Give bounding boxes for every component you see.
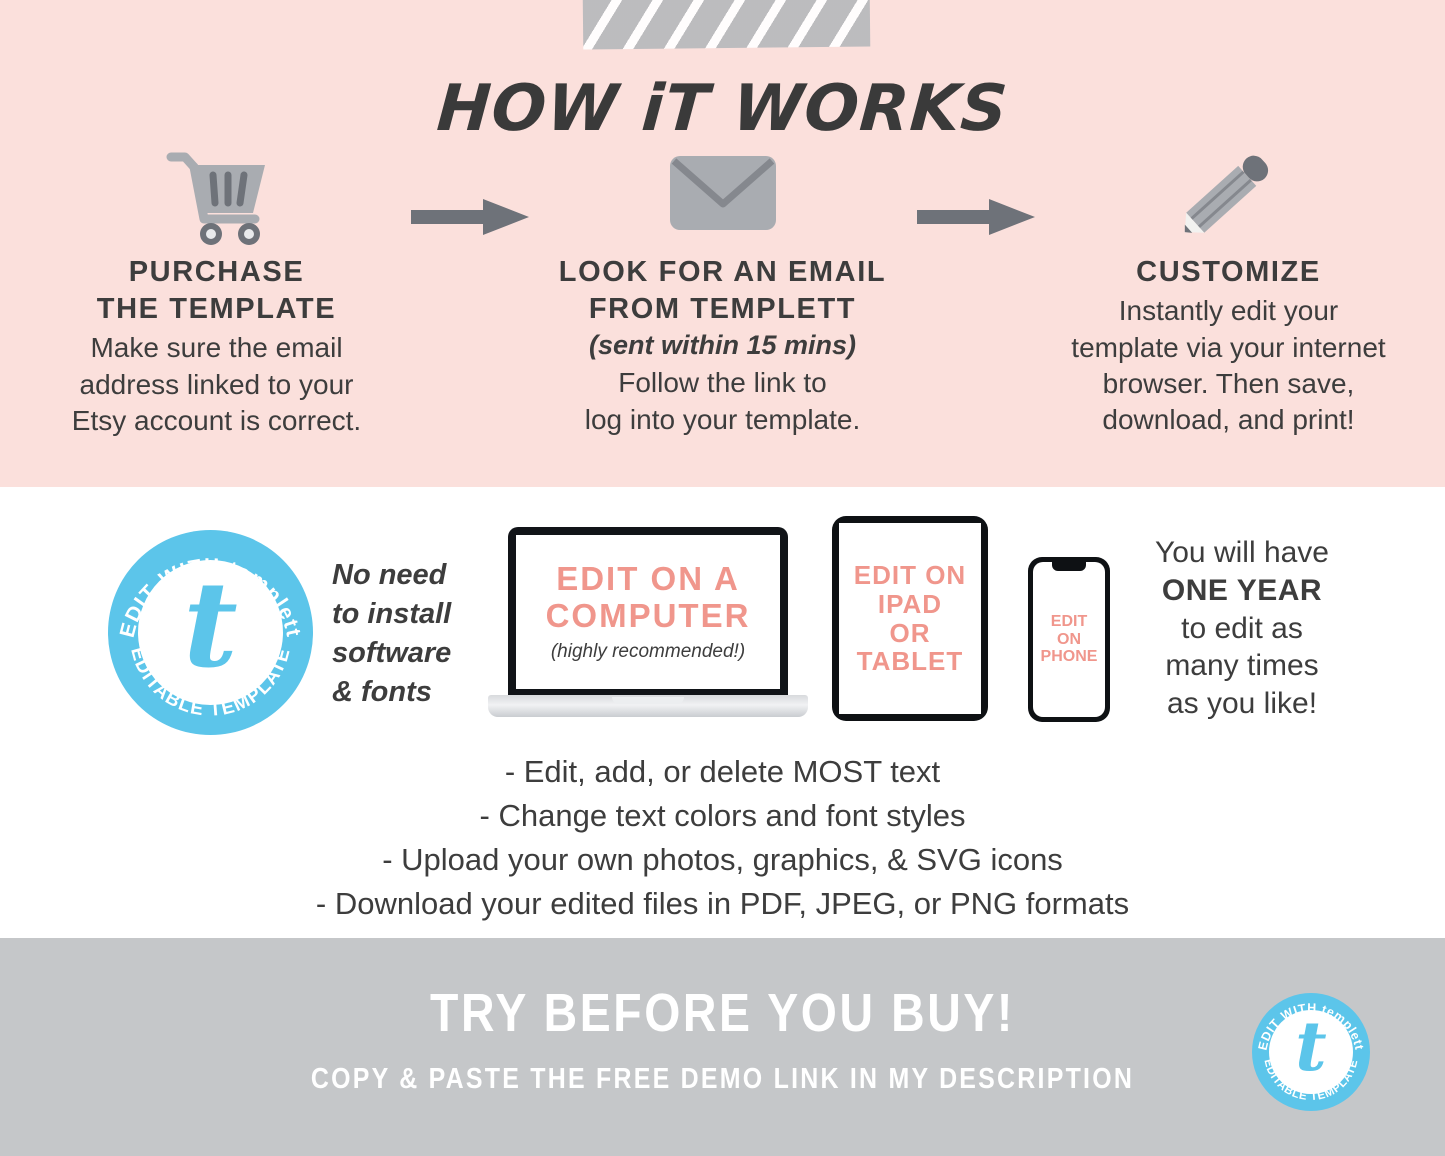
step-title-line1: CUSTOMIZE: [1136, 256, 1321, 288]
shopping-cart-icon: [157, 138, 277, 248]
step-customize: CUSTOMIZE Instantly edit your template v…: [1040, 138, 1418, 439]
templett-badge-small: EDIT WITH templett EDITABLE TEMPLATE t: [1252, 993, 1370, 1111]
try-before-you-buy-banner: TRY BEFORE YOU BUY! COPY & PASTE THE FRE…: [0, 938, 1445, 1156]
phone-frame: EDIT ON PHONE: [1028, 557, 1110, 722]
laptop-screen-sub: (highly recommended!): [551, 641, 745, 663]
phone-line2: ON: [1057, 631, 1081, 648]
steps-row: PURCHASE THE TEMPLATE Make sure the emai…: [0, 138, 1445, 468]
phone-notch: [1052, 562, 1086, 571]
step-title-line2: FROM TEMPLETT: [589, 293, 856, 325]
tablet-screen: EDIT ON IPAD OR TABLET: [839, 523, 981, 714]
footer-title: TRY BEFORE YOU BUY!: [101, 982, 1344, 1044]
step-body-line2: log into your template.: [585, 404, 861, 435]
step-body-line1: Instantly edit your: [1119, 295, 1338, 326]
list-item: - Upload your own photos, graphics, & SV…: [0, 838, 1445, 882]
step-title-line2: THE TEMPLATE: [97, 293, 336, 325]
step-body-line4: download, and print!: [1102, 404, 1354, 435]
envelope-icon: [668, 138, 778, 248]
one-year-line3: many times: [1165, 649, 1318, 682]
tablet-screen-text: EDIT ON IPAD OR TABLET: [854, 561, 966, 675]
laptop-head-line2: COMPUTER: [546, 597, 751, 634]
step-note: (sent within 15 mins): [589, 328, 856, 363]
laptop-screen-heading: EDIT ON A COMPUTER: [546, 561, 751, 635]
one-year-line2: to edit as: [1181, 612, 1303, 645]
tablet-line2: IPAD: [878, 589, 942, 619]
step-body: Make sure the email address linked to yo…: [72, 330, 361, 439]
step-body-line1: Make sure the email: [90, 332, 342, 363]
step-body-line3: Etsy account is correct.: [72, 405, 361, 436]
tablet-line1: EDIT ON: [854, 560, 966, 590]
step-title: LOOK FOR AN EMAIL FROM TEMPLETT: [559, 254, 886, 328]
right-arrow-icon: [912, 162, 1040, 272]
feature-bullet-list: - Edit, add, or delete MOST text - Chang…: [0, 750, 1445, 926]
list-item: - Download your edited files in PDF, JPE…: [0, 882, 1445, 926]
laptop-base: [488, 695, 808, 717]
step-title-line1: LOOK FOR AN EMAIL: [559, 256, 886, 288]
list-item: - Change text colors and font styles: [0, 794, 1445, 838]
laptop-lid: EDIT ON A COMPUTER (highly recommended!): [508, 527, 788, 697]
step-body-line3: browser. Then save,: [1103, 368, 1355, 399]
step-purchase: PURCHASE THE TEMPLATE Make sure the emai…: [28, 138, 406, 439]
step-title-line1: PURCHASE: [129, 256, 305, 288]
no-install-line2: to install: [332, 598, 451, 630]
tablet-line4: TABLET: [857, 646, 964, 676]
tablet-frame: EDIT ON IPAD OR TABLET: [832, 516, 988, 721]
phone-screen-text: EDIT ON PHONE: [1041, 613, 1098, 667]
step-body-line2: template via your internet: [1071, 332, 1385, 363]
step-body: Follow the link to log into your templat…: [585, 365, 861, 438]
pencil-icon: [1170, 138, 1288, 248]
badge-letter: t: [108, 566, 313, 684]
templett-badge-large: EDIT WITH templett EDITABLE TEMPLATE t: [108, 530, 313, 735]
step-title: PURCHASE THE TEMPLATE: [97, 254, 336, 328]
step-title: CUSTOMIZE: [1136, 254, 1321, 291]
phone-line1: EDIT: [1051, 613, 1087, 630]
washi-tape-icon: [583, 0, 871, 50]
list-item: - Edit, add, or delete MOST text: [0, 750, 1445, 794]
laptop-screen: EDIT ON A COMPUTER (highly recommended!): [516, 535, 780, 689]
tablet-line3: OR: [889, 618, 930, 648]
laptop-icon: EDIT ON A COMPUTER (highly recommended!): [500, 527, 796, 727]
no-install-line3: software: [332, 637, 451, 669]
one-year-line1: You will have: [1155, 536, 1329, 569]
tablet-icon: EDIT ON IPAD OR TABLET: [832, 516, 988, 721]
one-year-line4: as you like!: [1167, 687, 1317, 720]
phone-line3: PHONE: [1041, 648, 1098, 665]
no-install-line1: No need: [332, 559, 446, 591]
one-year-highlight: ONE YEAR: [1162, 574, 1322, 607]
no-install-line4: & fonts: [332, 676, 432, 708]
step-body: Instantly edit your template via your in…: [1071, 293, 1385, 439]
how-it-works-panel: HOW iT WORKS: [0, 0, 1445, 487]
step-body-line1: Follow the link to: [618, 367, 827, 398]
badge-letter: t: [1252, 1013, 1370, 1081]
phone-screen: EDIT ON PHONE: [1033, 562, 1105, 717]
right-arrow-icon: [406, 162, 534, 272]
no-install-text: No need to install software & fonts: [332, 556, 482, 711]
page-title: HOW iT WORKS: [0, 72, 1445, 146]
step-look-for-email: LOOK FOR AN EMAIL FROM TEMPLETT (sent wi…: [534, 138, 912, 438]
laptop-head-line1: EDIT ON A: [556, 560, 740, 597]
one-year-text: You will have ONE YEAR to edit as many t…: [1122, 534, 1362, 723]
phone-icon: EDIT ON PHONE: [1028, 557, 1110, 722]
footer-subtitle: COPY & PASTE THE FREE DEMO LINK IN MY DE…: [101, 1063, 1344, 1096]
step-body-line2: address linked to your: [80, 369, 354, 400]
